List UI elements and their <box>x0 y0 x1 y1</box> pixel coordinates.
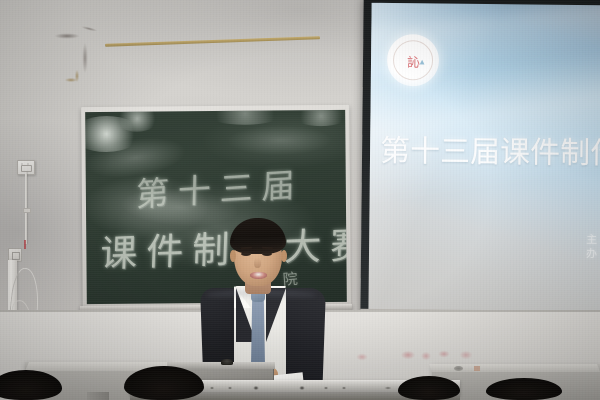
projection-screen-housing: 訫 ▲ 第十三届课件制作 主办 <box>360 0 600 325</box>
board-glare <box>115 110 159 132</box>
logo-accent: ▲ <box>418 57 426 66</box>
nose <box>254 258 261 268</box>
board-glare <box>293 110 347 126</box>
switch-screws <box>21 163 30 165</box>
podium-knob[interactable] <box>221 359 233 365</box>
desk-right-knob[interactable] <box>454 366 463 371</box>
desk-right-tab <box>474 366 480 371</box>
chalkboard-text-line-1: 第十三届 <box>135 158 304 216</box>
eye-left <box>241 252 251 256</box>
ear-right <box>281 250 287 262</box>
desk-left-leg <box>87 392 109 400</box>
slide-side-text: 主办 <box>581 233 597 261</box>
classroom-photo: 第十三届 课件制作大赛 院 訫 ▲ 第十三届课件制作 主办 <box>0 0 600 400</box>
conduit-clip <box>23 208 31 213</box>
audience-head <box>124 366 204 400</box>
slide-title: 第十三届课件制作 <box>380 137 600 170</box>
audience-head <box>398 376 460 400</box>
slide-logo: 訫 ▲ <box>387 34 440 87</box>
ear-left <box>230 250 236 262</box>
board-glare <box>205 110 285 125</box>
red-cable-tag <box>24 240 26 249</box>
projection-screen-surface[interactable]: 訫 ▲ 第十三届课件制作 主办 <box>368 3 600 313</box>
hair <box>230 218 286 254</box>
mouth <box>250 272 267 279</box>
audience-head <box>486 378 562 400</box>
eye-right <box>262 252 272 256</box>
